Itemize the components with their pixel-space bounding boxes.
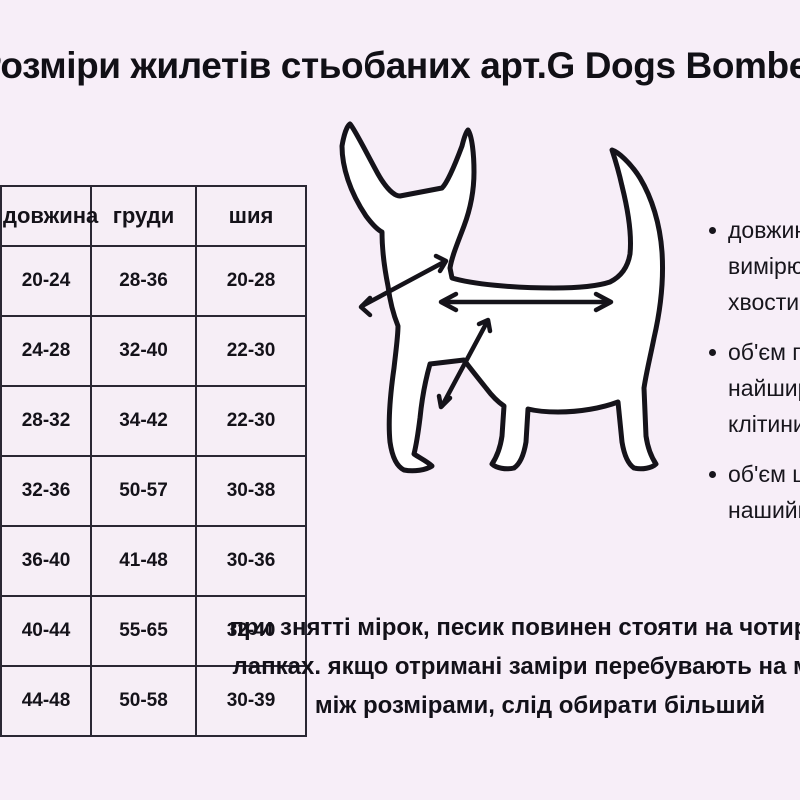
measurement-notes: довжина спинки вимірюється до хвостика о… bbox=[706, 212, 800, 542]
column-header-length: довжина bbox=[1, 186, 91, 246]
note-item-neck-girth: об'єм шиї - де нашийник bbox=[706, 456, 800, 528]
table-row: L 32-36 50-57 30-38 bbox=[0, 456, 306, 526]
cell-length: 20-24 bbox=[1, 246, 91, 316]
cell-chest: 28-36 bbox=[91, 246, 196, 316]
table-row: XS 20-24 28-36 20-28 bbox=[0, 246, 306, 316]
table-row: M 28-32 34-42 22-30 bbox=[0, 386, 306, 456]
measurement-instructions: при знятті мірок, песик повинен стояти н… bbox=[90, 608, 800, 725]
cell-length: 36-40 bbox=[1, 526, 91, 596]
cell-length: 40-44 bbox=[1, 596, 91, 666]
note-item-chest-girth: об'єм грудей - найширша частина клітини bbox=[706, 334, 800, 442]
dog-body-shape bbox=[342, 124, 663, 471]
cell-length: 24-28 bbox=[1, 316, 91, 386]
table-header-row: розмір довжина груди шия bbox=[0, 186, 306, 246]
cell-chest: 41-48 bbox=[91, 526, 196, 596]
note-item-back-length: довжина спинки вимірюється до хвостика bbox=[706, 212, 800, 320]
column-header-chest: груди bbox=[91, 186, 196, 246]
cell-neck: 22-30 bbox=[196, 316, 306, 386]
column-header-neck: шия bbox=[196, 186, 306, 246]
cell-length: 32-36 bbox=[1, 456, 91, 526]
cell-neck: 30-36 bbox=[196, 526, 306, 596]
cell-chest: 32-40 bbox=[91, 316, 196, 386]
notes-list: довжина спинки вимірюється до хвостика о… bbox=[706, 212, 800, 528]
table-row: S 24-28 32-40 22-30 bbox=[0, 316, 306, 386]
table-row: XL 36-40 41-48 30-36 bbox=[0, 526, 306, 596]
cell-neck: 22-30 bbox=[196, 386, 306, 456]
dog-illustration bbox=[322, 106, 702, 546]
page-title: Розміри жилетів стьобаних арт.G Dogs Bom… bbox=[0, 44, 800, 88]
size-chart-page: Розміри жилетів стьобаних арт.G Dogs Bom… bbox=[0, 0, 800, 800]
cell-neck: 20-28 bbox=[196, 246, 306, 316]
cell-length: 28-32 bbox=[1, 386, 91, 456]
cell-neck: 30-38 bbox=[196, 456, 306, 526]
cell-length: 44-48 bbox=[1, 666, 91, 736]
cell-chest: 50-57 bbox=[91, 456, 196, 526]
cell-chest: 34-42 bbox=[91, 386, 196, 456]
